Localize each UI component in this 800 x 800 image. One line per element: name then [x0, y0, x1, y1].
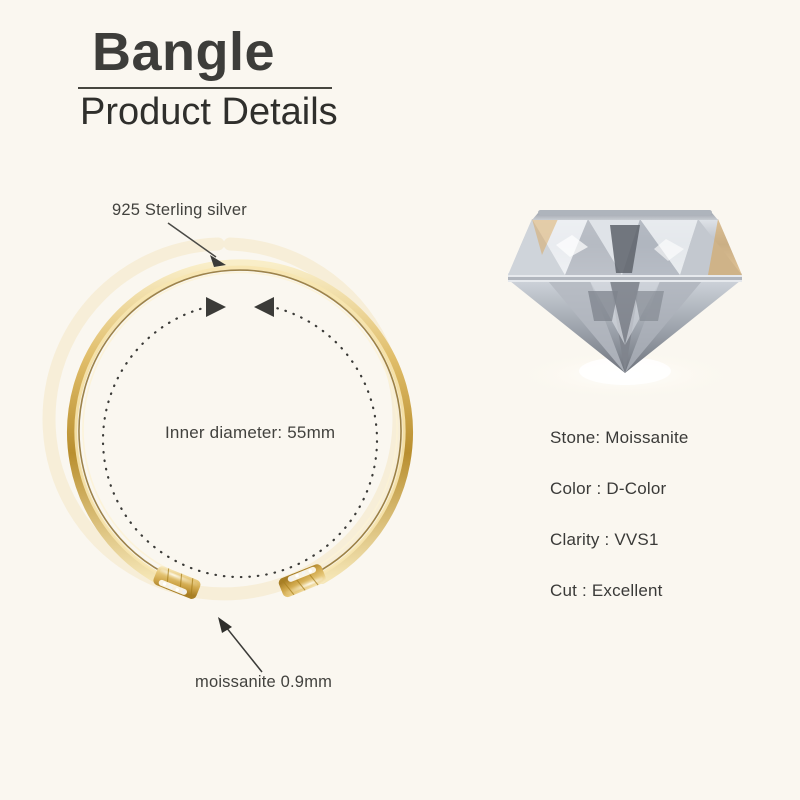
page-title: Bangle	[78, 24, 408, 81]
bangle-band	[49, 244, 408, 594]
spec-item-stone: Stone: Moissanite	[550, 428, 780, 448]
spec-item-cut: Cut : Excellent	[550, 581, 780, 601]
spec-item-clarity: Clarity : VVS1	[550, 530, 780, 550]
spec-item-color: Color : D-Color	[550, 479, 780, 499]
material-label: 925 Sterling silver	[112, 201, 247, 220]
bangle-terminal-left	[152, 565, 202, 601]
stone-size-label: moissanite 0.9mm	[195, 673, 332, 692]
diameter-arrow-right	[254, 297, 274, 317]
diamond-illustration	[470, 195, 780, 405]
page-subtitle: Product Details	[78, 91, 408, 135]
bangle-figure: 925 Sterling silver Inner diameter: 55mm…	[40, 175, 470, 705]
specification-list: Stone: Moissanite Color : D-Color Clarit…	[550, 428, 780, 601]
inner-diameter-label: Inner diameter: 55mm	[165, 423, 335, 443]
product-details-page: Bangle Product Details	[0, 0, 800, 800]
header: Bangle Product Details	[78, 24, 408, 134]
stone-size-leader-line	[218, 617, 262, 672]
diamond-image	[470, 195, 780, 405]
diameter-arrow-left	[206, 297, 226, 317]
title-divider	[78, 87, 332, 89]
